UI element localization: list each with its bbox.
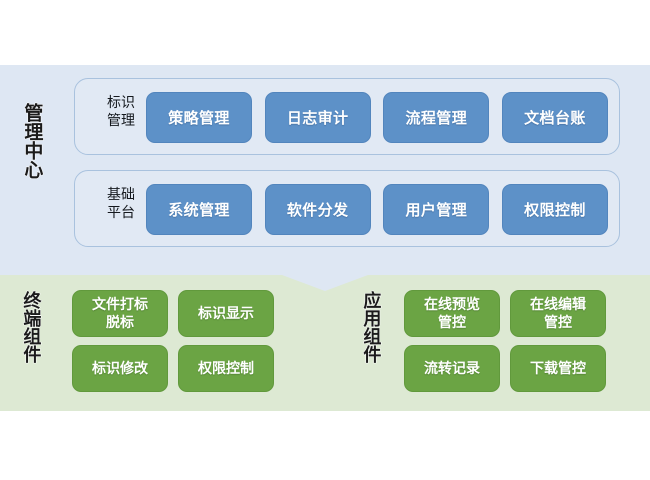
terminal-components-grid: 文件打标 脱标 标识显示 标识修改 权限控制 bbox=[72, 290, 274, 392]
button-document-ledger[interactable]: 文档台账 bbox=[502, 92, 608, 143]
application-components-grid: 在线预览 管控 在线编辑 管控 流转记录 下载管控 bbox=[404, 290, 606, 392]
identity-management-row-label: 标识 管理 bbox=[93, 93, 149, 130]
identity-management-row-label-line2: 管理 bbox=[93, 111, 149, 129]
identity-management-row-label-line1: 标识 bbox=[93, 93, 149, 111]
button-process-management[interactable]: 流程管理 bbox=[383, 92, 489, 143]
button-circulation-record[interactable]: 流转记录 bbox=[404, 345, 500, 392]
button-identity-display[interactable]: 标识显示 bbox=[178, 290, 274, 337]
identity-management-group: 标识 管理 策略管理 日志审计 流程管理 文档台账 bbox=[74, 78, 620, 155]
button-log-audit[interactable]: 日志审计 bbox=[265, 92, 371, 143]
button-download-control[interactable]: 下载管控 bbox=[510, 345, 606, 392]
button-file-tagging-untagging[interactable]: 文件打标 脱标 bbox=[72, 290, 168, 337]
base-platform-row-label-line2: 平台 bbox=[93, 203, 149, 221]
base-platform-group: 基础 平台 系统管理 软件分发 用户管理 权限控制 bbox=[74, 170, 620, 247]
button-permission-control[interactable]: 权限控制 bbox=[502, 184, 608, 235]
button-online-editing-control[interactable]: 在线编辑 管控 bbox=[510, 290, 606, 337]
terminal-components-side-label: 终端组件 bbox=[22, 291, 40, 363]
button-terminal-permission-control[interactable]: 权限控制 bbox=[178, 345, 274, 392]
button-user-management[interactable]: 用户管理 bbox=[383, 184, 489, 235]
management-center-side-label: 管理中心 bbox=[22, 103, 41, 179]
button-system-management[interactable]: 系统管理 bbox=[146, 184, 252, 235]
architecture-diagram: 管理中心 标识 管理 策略管理 日志审计 流程管理 文档台账 基础 平台 系统管… bbox=[0, 0, 650, 480]
identity-management-button-row: 策略管理 日志审计 流程管理 文档台账 bbox=[146, 90, 608, 145]
base-platform-button-row: 系统管理 软件分发 用户管理 权限控制 bbox=[146, 182, 608, 237]
application-components-side-label: 应用组件 bbox=[362, 291, 380, 363]
button-policy-management[interactable]: 策略管理 bbox=[146, 92, 252, 143]
button-identity-modification[interactable]: 标识修改 bbox=[72, 345, 168, 392]
button-software-distribution[interactable]: 软件分发 bbox=[265, 184, 371, 235]
base-platform-row-label: 基础 平台 bbox=[93, 185, 149, 222]
base-platform-row-label-line1: 基础 bbox=[93, 185, 149, 203]
button-online-preview-control[interactable]: 在线预览 管控 bbox=[404, 290, 500, 337]
